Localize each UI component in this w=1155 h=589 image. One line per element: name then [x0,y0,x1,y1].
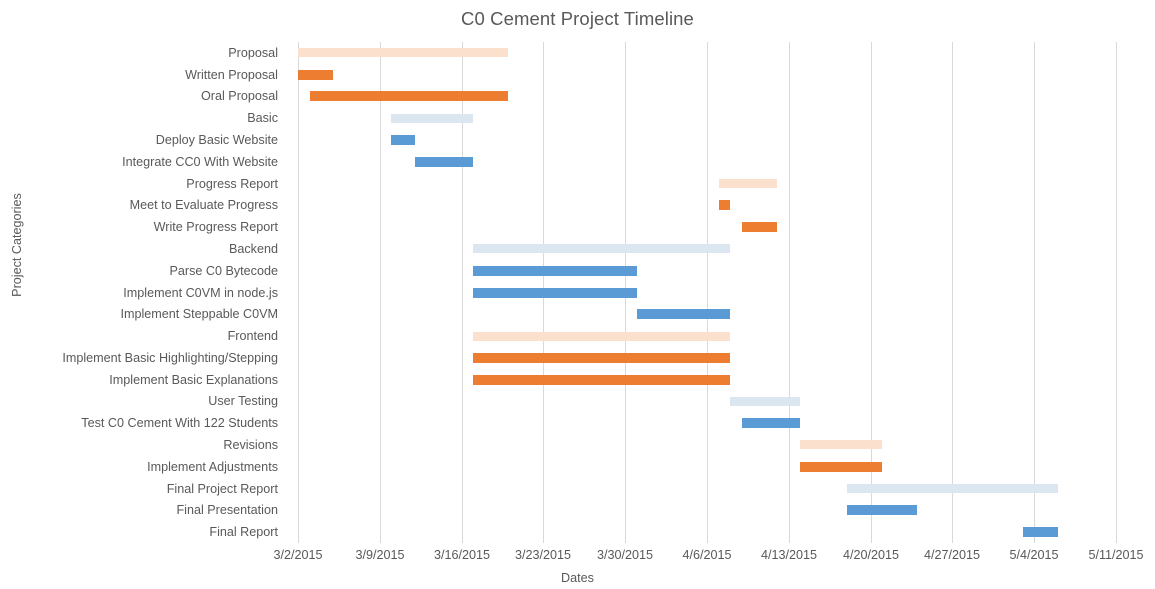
y-axis-tick-label: Meet to Evaluate Progress [0,198,278,212]
gantt-bar[interactable] [719,200,731,210]
gantt-bar[interactable] [415,157,473,167]
y-axis-tick-label: Final Presentation [0,503,278,517]
y-axis-tick-labels: ProposalWritten ProposalOral ProposalBas… [0,42,288,543]
y-axis-tick-label: Written Proposal [0,68,278,82]
gridline [707,42,708,543]
y-axis-tick-label: User Testing [0,394,278,408]
y-axis-tick-label: Proposal [0,46,278,60]
y-axis-tick-label: Frontend [0,329,278,343]
y-axis-tick-label: Write Progress Report [0,220,278,234]
y-axis-tick-label: Oral Proposal [0,89,278,103]
gantt-bar[interactable] [473,375,730,385]
y-axis-tick-label: Implement C0VM in node.js [0,286,278,300]
x-axis-tick-label: 3/16/2015 [417,548,507,562]
x-axis-tick-label: 5/4/2015 [989,548,1079,562]
x-axis-tick-label: 4/27/2015 [907,548,997,562]
gantt-bar[interactable] [391,114,473,123]
y-axis-tick-label: Revisions [0,438,278,452]
gantt-bar[interactable] [473,353,730,363]
x-axis-tick-label: 3/2/2015 [253,548,343,562]
x-axis-title: Dates [0,571,1155,585]
x-axis-tick-label: 4/13/2015 [744,548,834,562]
gantt-bar[interactable] [730,397,800,406]
gantt-bar[interactable] [847,505,917,515]
gridline [1034,42,1035,543]
y-axis-tick-label: Integrate CC0 With Website [0,155,278,169]
chart-title: C0 Cement Project Timeline [0,8,1155,30]
y-axis-tick-label: Basic [0,111,278,125]
y-axis-tick-label: Implement Basic Highlighting/Stepping [0,351,278,365]
gantt-bar[interactable] [1023,527,1058,537]
gridline [380,42,381,543]
y-axis-tick-label: Final Report [0,525,278,539]
gantt-bar[interactable] [473,266,637,276]
gantt-bar[interactable] [637,309,730,319]
gantt-bar[interactable] [391,135,414,145]
gantt-bar[interactable] [473,332,730,341]
gantt-bar[interactable] [800,462,882,472]
y-axis-tick-label: Implement Basic Explanations [0,373,278,387]
x-axis-tick-label: 4/20/2015 [826,548,916,562]
gantt-bar[interactable] [298,70,333,80]
y-axis-tick-label: Deploy Basic Website [0,133,278,147]
plot-area [298,42,1116,543]
y-axis-tick-label: Final Project Report [0,482,278,496]
gantt-bar[interactable] [800,440,882,449]
x-axis-tick-label: 4/6/2015 [662,548,752,562]
y-axis-tick-label: Implement Steppable C0VM [0,307,278,321]
y-axis-tick-label: Parse C0 Bytecode [0,264,278,278]
gantt-bar[interactable] [719,179,777,188]
gridline [1116,42,1117,543]
y-axis-tick-label: Progress Report [0,177,278,191]
gantt-bar[interactable] [310,91,509,101]
x-axis-tick-labels: 3/2/20153/9/20153/16/20153/23/20153/30/2… [298,548,1116,566]
y-axis-tick-label: Backend [0,242,278,256]
gantt-bar[interactable] [742,418,800,428]
gridline [789,42,790,543]
gantt-chart: C0 Cement Project Timeline Project Categ… [0,0,1155,589]
x-axis-tick-label: 3/9/2015 [335,548,425,562]
x-axis-tick-label: 3/23/2015 [498,548,588,562]
x-axis-tick-label: 5/11/2015 [1071,548,1155,562]
y-axis-tick-label: Test C0 Cement With 122 Students [0,416,278,430]
y-axis-tick-label: Implement Adjustments [0,460,278,474]
gantt-bar[interactable] [847,484,1057,493]
gantt-bar[interactable] [473,244,730,253]
x-axis-tick-label: 3/30/2015 [580,548,670,562]
gridline [298,42,299,543]
gridline [952,42,953,543]
gantt-bar[interactable] [298,48,508,57]
gantt-bar[interactable] [473,288,637,298]
gantt-bar[interactable] [742,222,777,232]
